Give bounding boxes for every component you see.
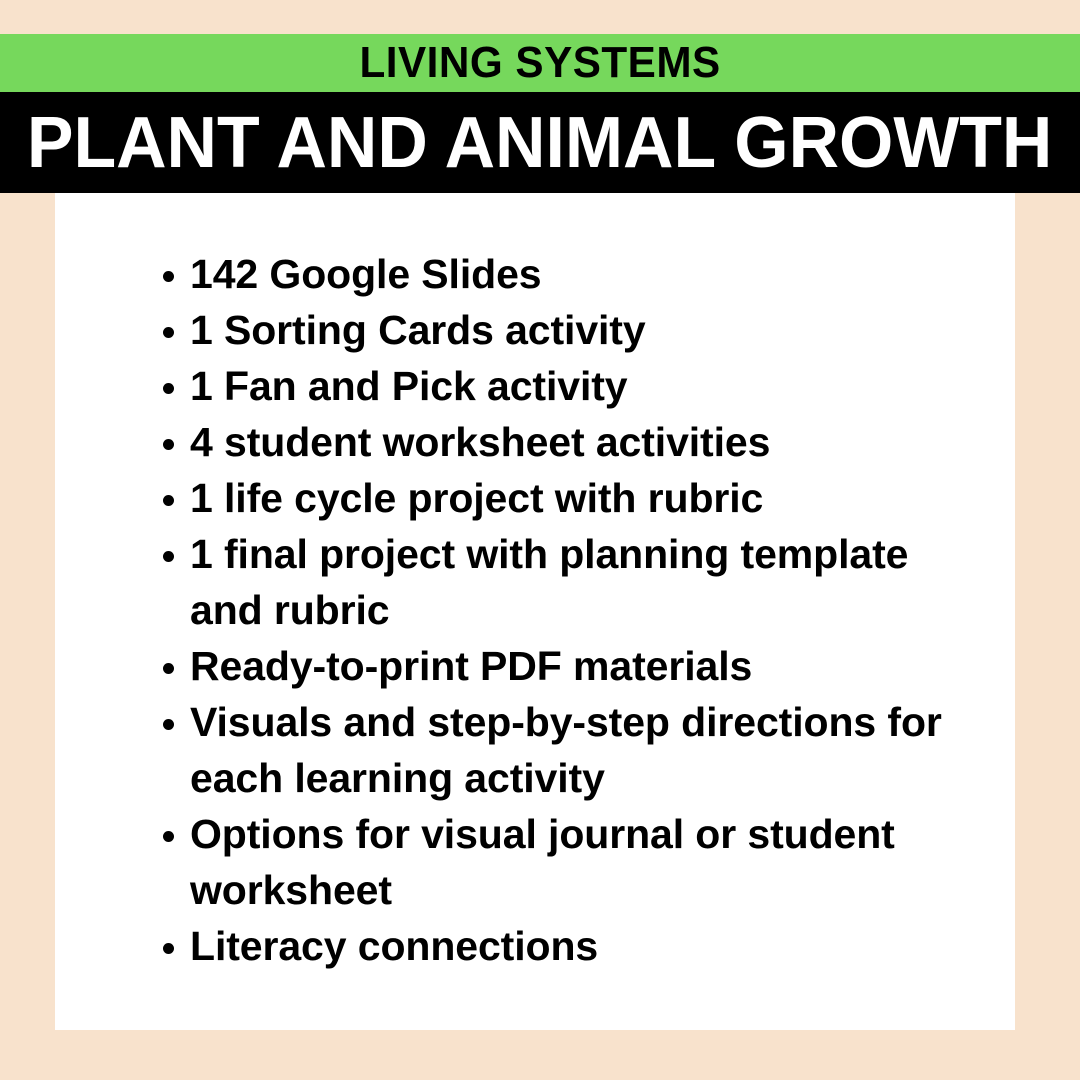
eyebrow-band: LIVING SYSTEMS bbox=[0, 34, 1080, 92]
list-item: Literacy connections bbox=[103, 918, 983, 974]
list-item-label: Options for visual journal or student wo… bbox=[190, 811, 895, 913]
list-item-label: Literacy connections bbox=[190, 923, 598, 969]
list-item-label: 4 student worksheet activities bbox=[190, 419, 770, 465]
page-title: PLANT AND ANIMAL GROWTH bbox=[27, 107, 1053, 179]
list-item: 4 student worksheet activities bbox=[103, 414, 983, 470]
list-item: 142 Google Slides bbox=[103, 246, 983, 302]
title-band: PLANT AND ANIMAL GROWTH bbox=[0, 92, 1080, 193]
list-item: Ready-to-print PDF materials bbox=[103, 638, 983, 694]
list-item-label: Ready-to-print PDF materials bbox=[190, 643, 752, 689]
list-item: 1 life cycle project with rubric bbox=[103, 470, 983, 526]
list-item-label: 1 life cycle project with rubric bbox=[190, 475, 763, 521]
eyebrow-label: LIVING SYSTEMS bbox=[359, 41, 720, 85]
list-item-label: Visuals and step-by-step directions for … bbox=[190, 699, 942, 801]
list-item: Visuals and step-by-step directions for … bbox=[103, 694, 983, 806]
poster-canvas: LIVING SYSTEMS PLANT AND ANIMAL GROWTH 1… bbox=[0, 0, 1080, 1080]
list-item-label: 142 Google Slides bbox=[190, 251, 542, 297]
content-card: 142 Google Slides 1 Sorting Cards activi… bbox=[55, 193, 1015, 1030]
list-item: Options for visual journal or student wo… bbox=[103, 806, 983, 918]
list-item-label: 1 Sorting Cards activity bbox=[190, 307, 646, 353]
list-item-label: 1 Fan and Pick activity bbox=[190, 363, 628, 409]
list-item: 1 final project with planning template a… bbox=[103, 526, 983, 638]
list-item: 1 Sorting Cards activity bbox=[103, 302, 983, 358]
list-item: 1 Fan and Pick activity bbox=[103, 358, 983, 414]
feature-bullet-list: 142 Google Slides 1 Sorting Cards activi… bbox=[103, 246, 983, 974]
list-item-label: 1 final project with planning template a… bbox=[190, 531, 908, 633]
